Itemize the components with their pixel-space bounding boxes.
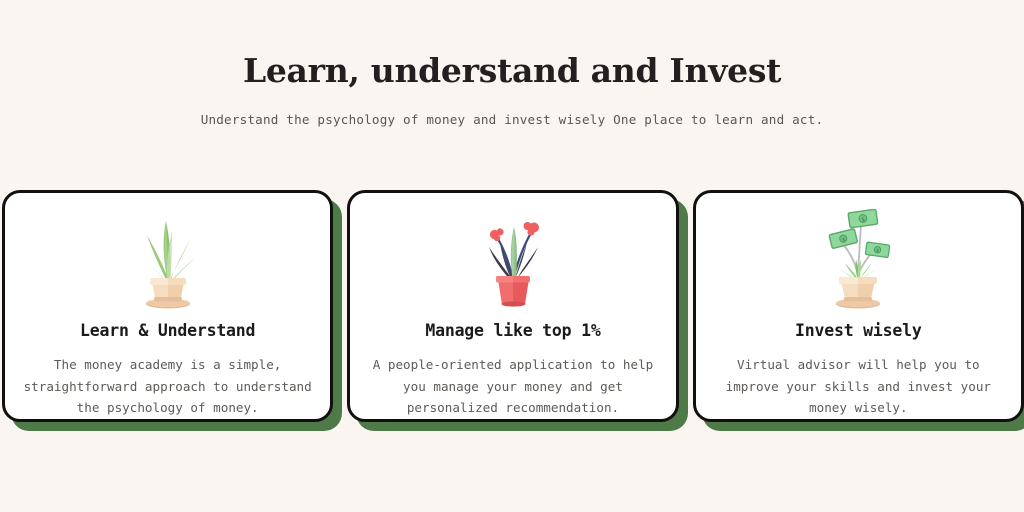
page-title: Learn, understand and Invest	[0, 52, 1024, 90]
hero-section: Learn, understand and Invest Understand …	[0, 0, 1024, 127]
card-description: A people-oriented application to help yo…	[364, 354, 661, 419]
page-subtitle: Understand the psychology of money and i…	[0, 112, 1024, 127]
feature-card-3[interactable]: $ $ $	[693, 190, 1024, 422]
potted-money-plant-icon: $ $ $	[808, 209, 908, 309]
card-surface[interactable]: $ $ $	[693, 190, 1024, 422]
feature-card-row: Learn & Understand The money academy is …	[0, 190, 1024, 422]
card-title: Manage like top 1%	[425, 321, 600, 340]
card-title: Invest wisely	[795, 321, 922, 340]
feature-card-2[interactable]: Manage like top 1% A people-oriented app…	[347, 190, 678, 422]
card-description: The money academy is a simple, straightf…	[19, 354, 316, 419]
card-surface[interactable]: Learn & Understand The money academy is …	[2, 190, 333, 422]
card-title: Learn & Understand	[80, 321, 255, 340]
card-description: Virtual advisor will help you to improve…	[710, 354, 1007, 419]
card-surface[interactable]: Manage like top 1% A people-oriented app…	[347, 190, 678, 422]
potted-flowering-plant-icon	[463, 209, 563, 309]
feature-card-1[interactable]: Learn & Understand The money academy is …	[2, 190, 333, 422]
potted-grass-plant-icon	[118, 209, 218, 309]
